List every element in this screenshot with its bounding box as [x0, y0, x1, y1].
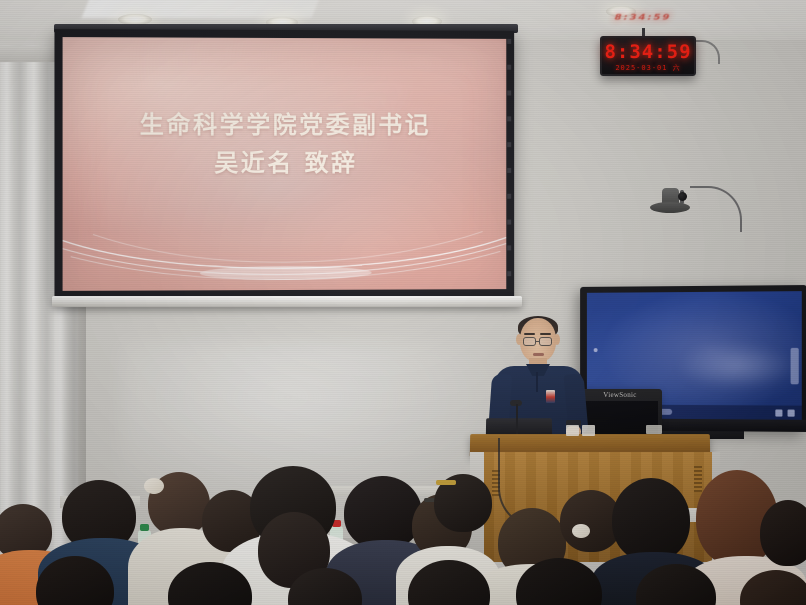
- presenter-mouth: [533, 353, 544, 356]
- hair-scrunchie: [144, 478, 164, 494]
- display-side-dock[interactable]: [791, 348, 799, 384]
- presenter-ear: [516, 334, 522, 345]
- menu-icon[interactable]: [788, 409, 795, 416]
- microphone-stand: [516, 404, 518, 436]
- glasses-icon: [523, 337, 536, 346]
- bottle-cap: [140, 524, 149, 531]
- hair-scrunchie: [572, 524, 590, 538]
- presenter-ear: [554, 334, 560, 345]
- projection-screen-bottom-bar: [52, 296, 522, 307]
- led-wall-clock: 8:34:59 2025-03-01 六: [600, 36, 696, 76]
- clock-date-display: 2025-03-01 六: [602, 63, 694, 73]
- presenter-eyebrow: [524, 333, 535, 335]
- projection-screen: 生命科学学院党委副书记 吴近名 致辞: [54, 29, 514, 299]
- ceiling-light-panel: [82, 0, 321, 18]
- podium-item: [582, 425, 595, 436]
- audience: [0, 452, 806, 605]
- camera-lens-icon: [678, 192, 687, 201]
- display-desktop-icon[interactable]: [594, 348, 598, 352]
- ptz-camera: [650, 188, 690, 218]
- presentation-slide: 生命科学学院党委副书记 吴近名 致辞: [63, 37, 507, 291]
- back-icon[interactable]: [775, 409, 782, 416]
- podium-item: [566, 425, 579, 436]
- lecture-hall-photo: 生命科学学院党委副书记 吴近名 致辞 8:34:59 8:34:59 2025-…: [0, 0, 806, 605]
- slide-vignette: [63, 37, 507, 291]
- hair-clip: [436, 480, 456, 485]
- presenter-badge: [546, 390, 555, 403]
- audience-head: [612, 478, 690, 562]
- glasses-bridge: [536, 341, 540, 342]
- taskbar-tray[interactable]: [775, 409, 794, 416]
- display-glow: [676, 343, 797, 390]
- glasses-icon: [539, 337, 552, 346]
- podium-item: [646, 425, 662, 434]
- ptz-camera-base: [650, 202, 690, 213]
- audience-head: [344, 476, 422, 550]
- shirt-placket: [536, 372, 538, 392]
- presenter-eyebrow: [540, 333, 551, 335]
- clock-ceiling-reflection: 8:34:59: [612, 13, 695, 24]
- audience-head: [760, 500, 806, 566]
- clock-time-display: 8:34:59: [602, 41, 694, 63]
